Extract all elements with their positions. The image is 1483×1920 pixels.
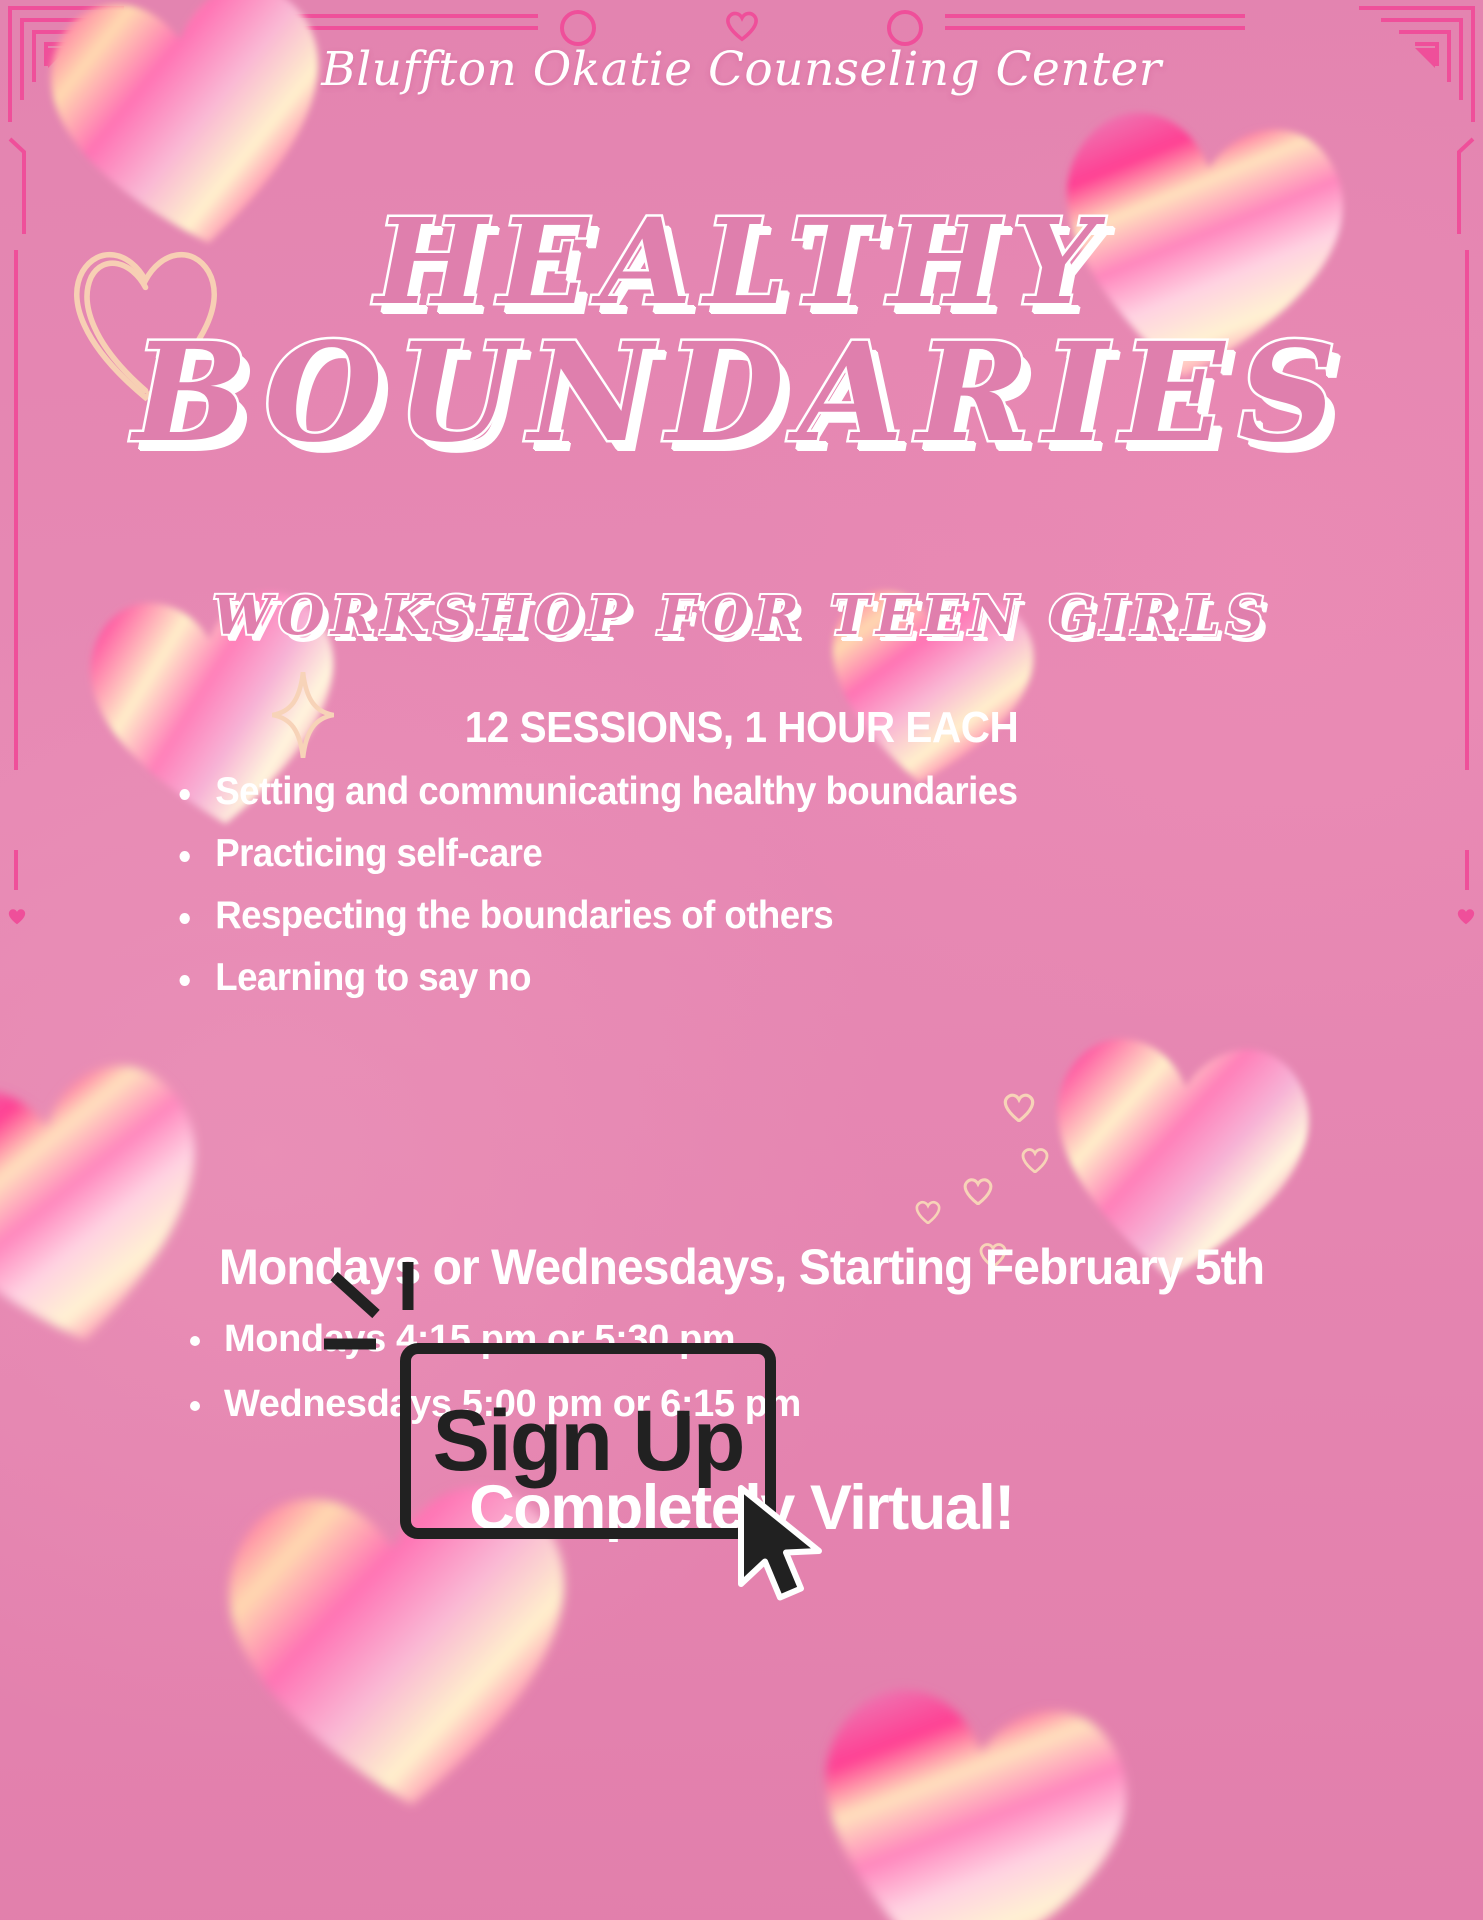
organization-name: Bluffton Okatie Counseling Center bbox=[0, 42, 1483, 97]
sign-up-button-label: Sign Up bbox=[400, 1343, 776, 1539]
sign-up-button[interactable]: Sign Up bbox=[400, 1343, 780, 1543]
title-line-1: HEALTHY bbox=[0, 205, 1483, 318]
list-item: Practicing self-care bbox=[172, 832, 1017, 876]
topics-list: Setting and communicating healthy bounda… bbox=[172, 770, 1071, 1018]
poster: Bluffton Okatie Counseling Center HEALTH… bbox=[0, 0, 1483, 1920]
cursor-pointer-icon bbox=[728, 1485, 838, 1605]
list-item: Setting and communicating healthy bounda… bbox=[172, 770, 1017, 814]
poster-content: Bluffton Okatie Counseling Center HEALTH… bbox=[0, 0, 1483, 1920]
list-item: Respecting the boundaries of others bbox=[172, 894, 1017, 938]
title-line-2: BOUNDARIES bbox=[0, 328, 1483, 459]
sessions-summary: 12 SESSIONS, 1 HOUR EACH bbox=[59, 703, 1423, 753]
poster-title: HEALTHY BOUNDARIES bbox=[0, 205, 1483, 459]
poster-subtitle: WORKSHOP FOR TEEN GIRLS bbox=[0, 585, 1483, 647]
schedule-heading: Mondays or Wednesdays, Starting February… bbox=[30, 1238, 1454, 1296]
list-item: Learning to say no bbox=[172, 956, 1017, 1000]
